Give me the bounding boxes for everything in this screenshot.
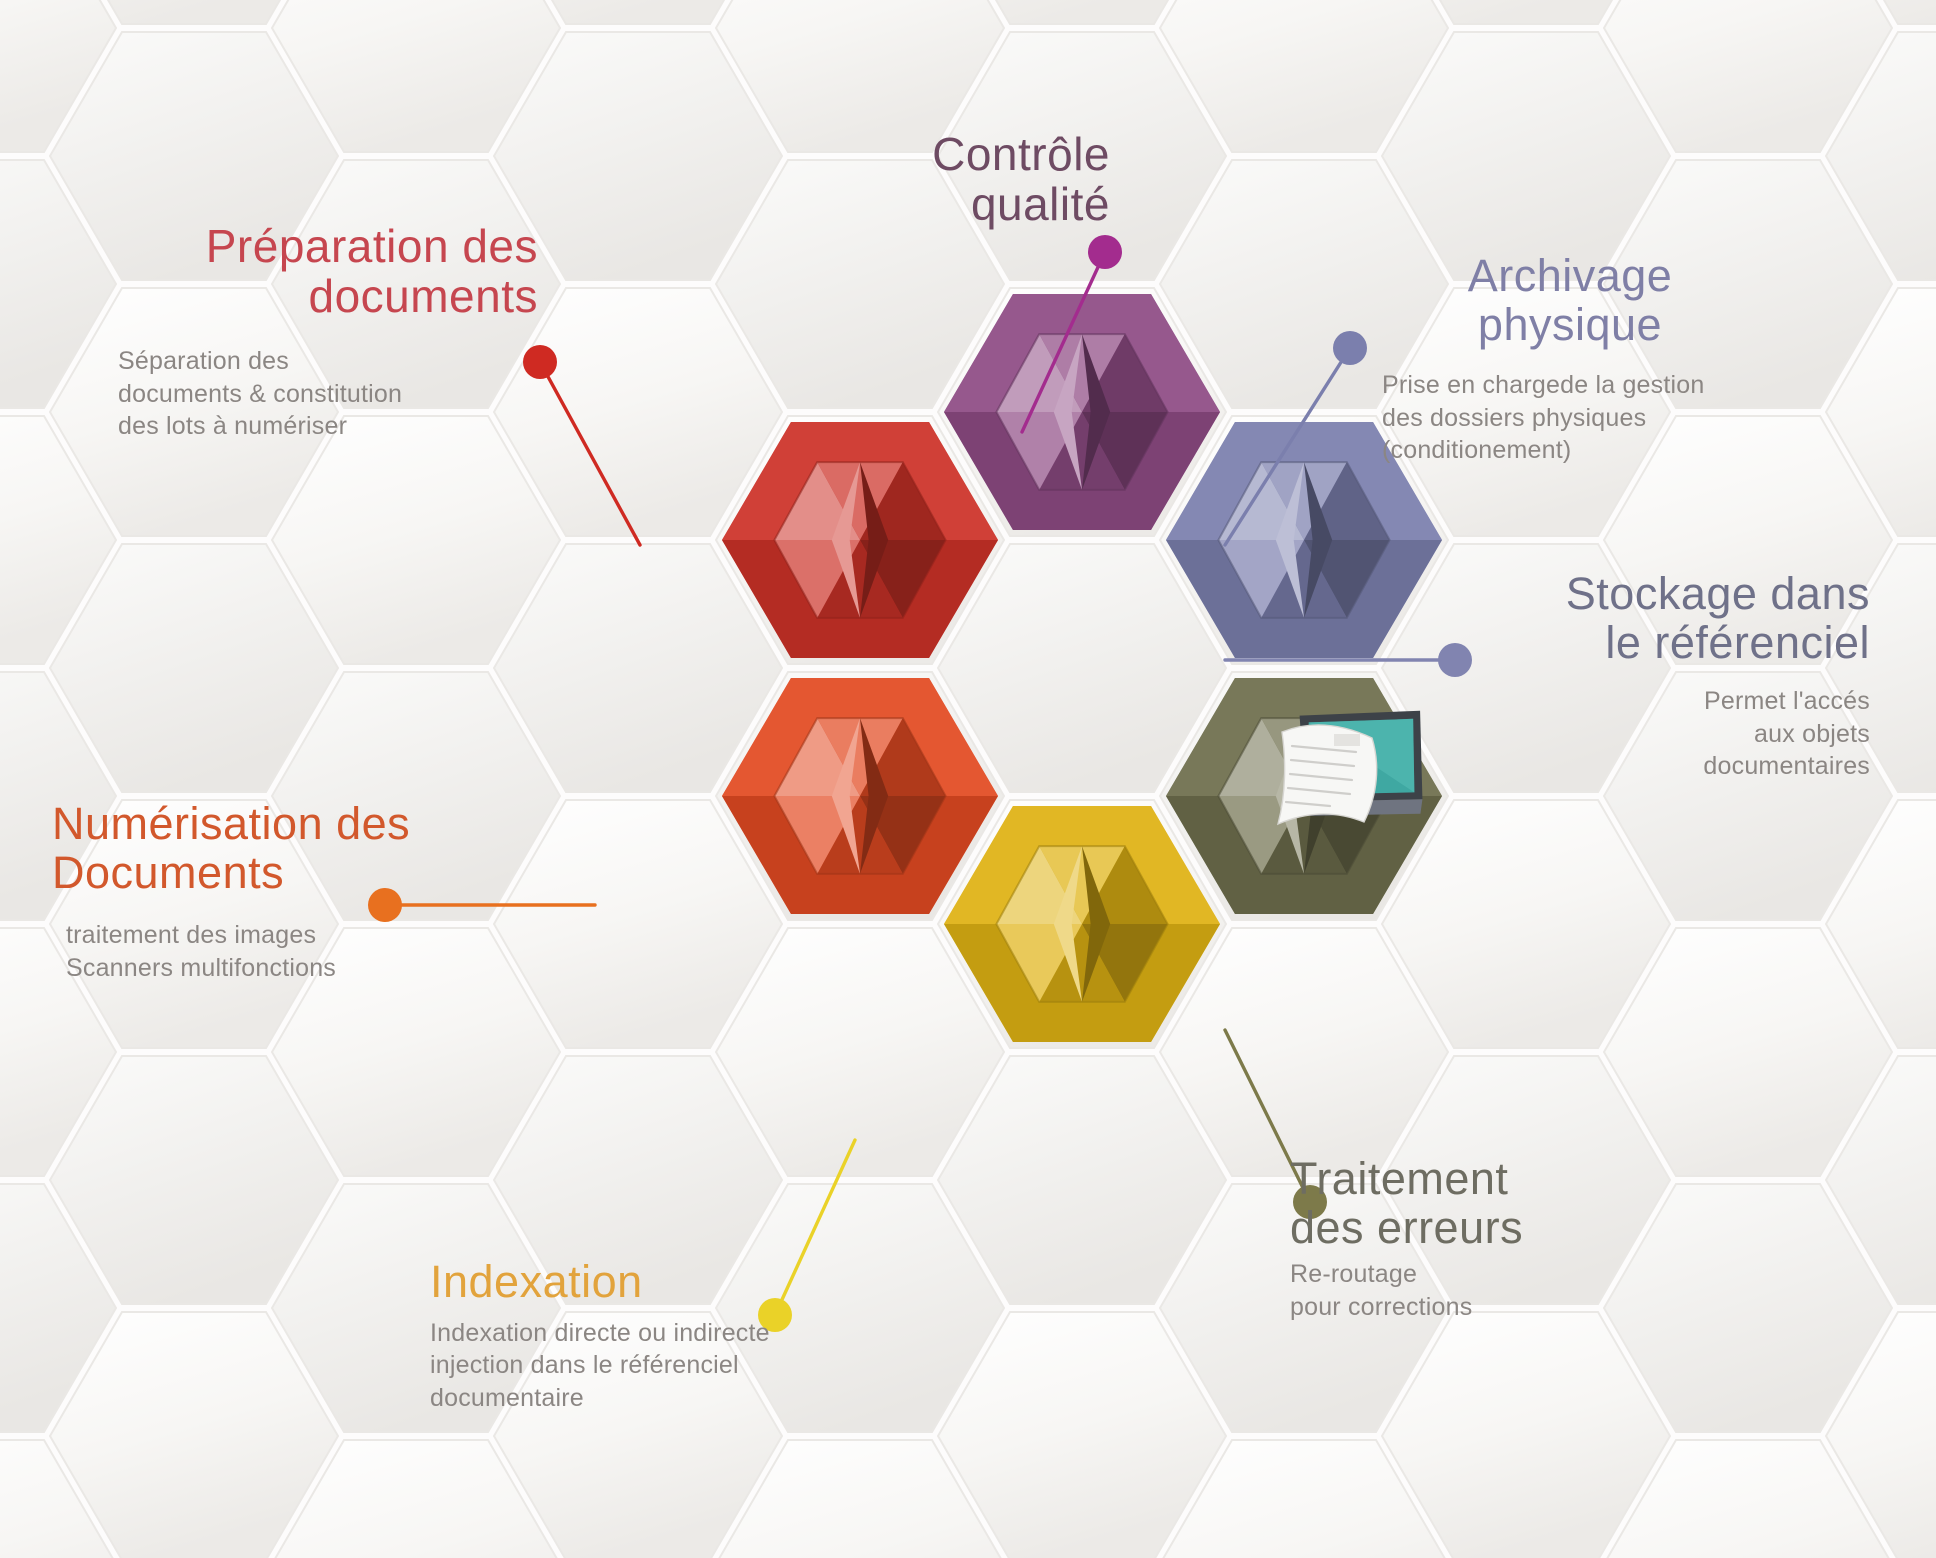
node-title-indexation: Indexation — [430, 1258, 950, 1307]
node-label-numerisation: Numérisation des Documents traitement de… — [52, 800, 512, 984]
node-label-stockage-referenciel: Stockage dans le référenciel Permet l'ac… — [1400, 570, 1870, 783]
connector-preparation-line — [540, 362, 640, 545]
node-title-numerisation: Numérisation des Documents — [52, 800, 512, 897]
node-title-archivage-physique: Archivage physique — [1290, 252, 1850, 349]
node-label-indexation: Indexation Indexation directe ou indirec… — [430, 1258, 950, 1414]
node-title-preparation: Préparation des documents — [118, 222, 538, 321]
node-title-traitement-erreurs: Traitement des erreurs — [1290, 1155, 1690, 1252]
node-title-stockage-referenciel: Stockage dans le référenciel — [1400, 570, 1870, 667]
node-label-archivage-physique: Archivage physique Prise en chargede la … — [1290, 252, 1850, 467]
node-label-traitement-erreurs: Traitement des erreurs Re-routage pour c… — [1290, 1155, 1690, 1323]
connector-controle-qualite-line — [1022, 252, 1105, 432]
infographic-canvas: Préparation des documents Séparation des… — [0, 0, 1936, 1558]
connector-controle-qualite-dot — [1088, 235, 1122, 269]
node-label-controle-qualite: Contrôle qualité — [780, 130, 1110, 229]
node-desc-indexation: Indexation directe ou indirecte injectio… — [430, 1317, 950, 1415]
node-label-preparation: Préparation des documents Séparation des… — [118, 222, 538, 443]
node-desc-numerisation: traitement des images Scanners multifonc… — [52, 919, 512, 984]
node-desc-stockage-referenciel: Permet l'accés aux objets documentaires — [1400, 685, 1870, 783]
node-desc-preparation: Séparation des documents & constitution … — [118, 345, 538, 443]
node-desc-traitement-erreurs: Re-routage pour corrections — [1290, 1258, 1690, 1323]
node-desc-archivage-physique: Prise en chargede la gestion des dossier… — [1290, 369, 1850, 467]
node-title-controle-qualite: Contrôle qualité — [780, 130, 1110, 229]
